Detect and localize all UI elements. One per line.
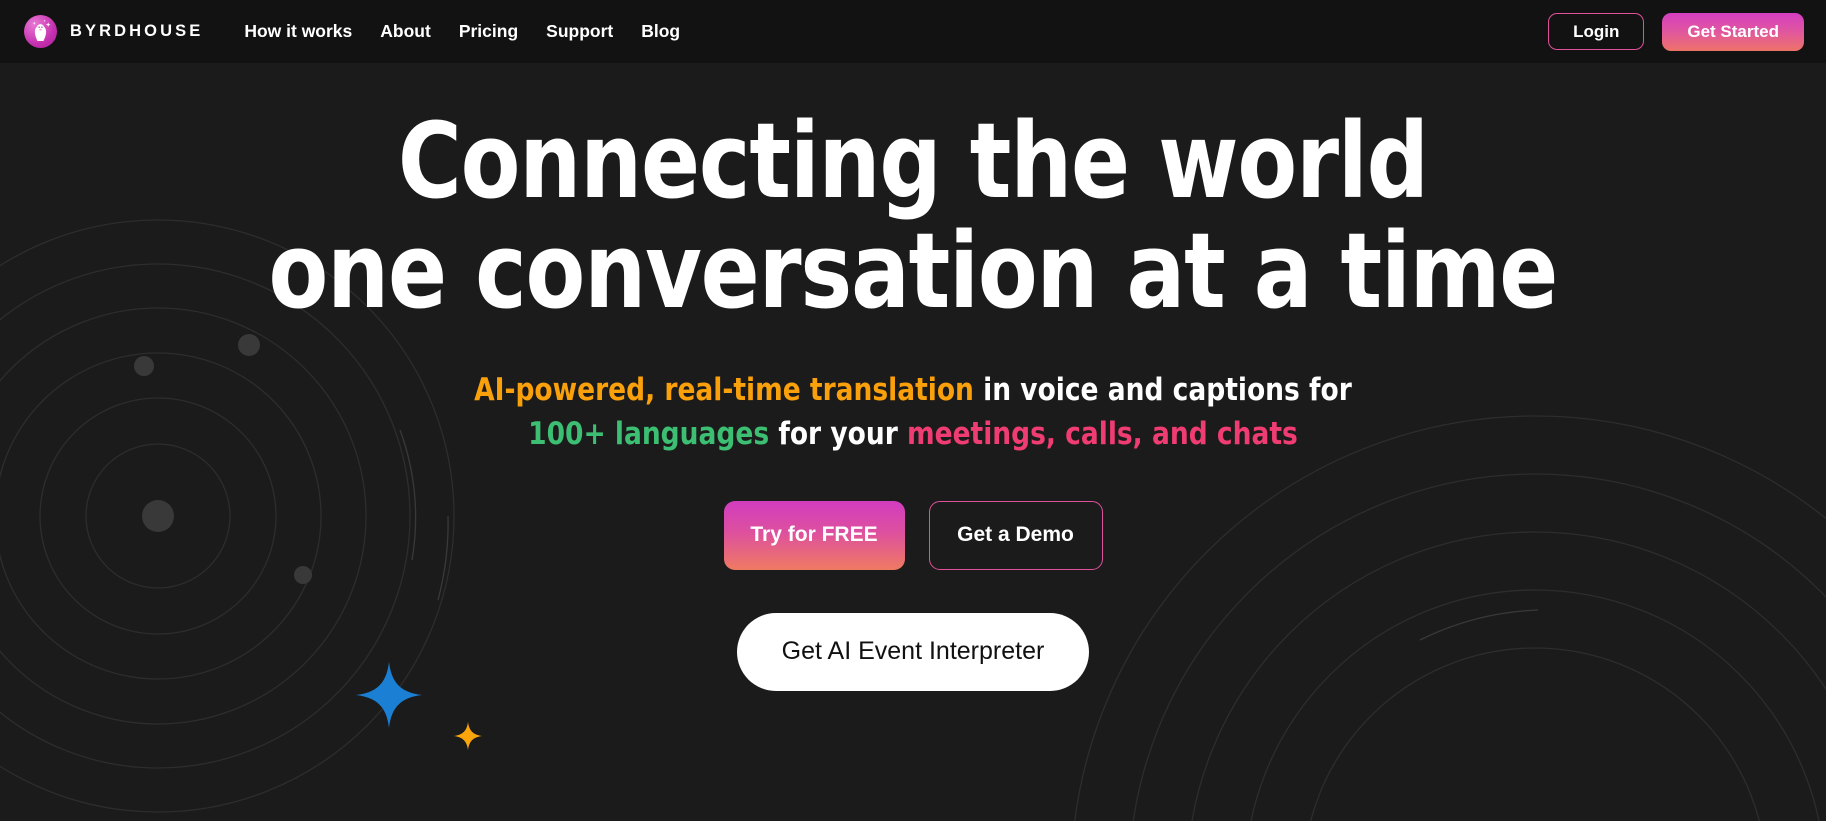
subhead-ai-powered: AI-powered, real-time translation [474, 372, 974, 408]
get-a-demo-button[interactable]: Get a Demo [929, 501, 1103, 570]
headline-line-1: Connecting the world [398, 100, 1428, 222]
header-actions: Login Get Started [1548, 13, 1804, 51]
get-ai-event-interpreter-button[interactable]: Get AI Event Interpreter [737, 613, 1089, 691]
nav-item-pricing[interactable]: Pricing [445, 21, 532, 42]
nav-item-how-it-works[interactable]: How it works [230, 21, 366, 42]
site-header: BYRDHOUSE How it works About Pricing Sup… [0, 0, 1826, 63]
hero-section: Connecting the world one conversation at… [0, 63, 1826, 821]
subhead-voice-captions: in voice and captions for [974, 372, 1352, 408]
get-started-button[interactable]: Get Started [1662, 13, 1804, 51]
headline-line-2: one conversation at a time [269, 216, 1558, 326]
landing-page: BYRDHOUSE How it works About Pricing Sup… [0, 0, 1826, 821]
brand-name: BYRDHOUSE [70, 22, 203, 41]
nav-item-about[interactable]: About [366, 21, 445, 42]
nav-item-support[interactable]: Support [532, 21, 627, 42]
subhead-meetings-calls-chats: meetings, calls, and chats [907, 416, 1298, 452]
subhead-languages: 100+ languages [528, 416, 769, 452]
subhead-for-your: for your [769, 416, 907, 452]
login-button[interactable]: Login [1548, 13, 1644, 50]
hero-subheading: AI-powered, real-time translation in voi… [474, 368, 1352, 456]
byrdhouse-bird-logo-icon [24, 15, 57, 48]
nav-item-blog[interactable]: Blog [627, 21, 694, 42]
cta-button-row: Try for FREE Get a Demo [724, 501, 1103, 570]
try-for-free-button[interactable]: Try for FREE [724, 501, 905, 570]
page-title: Connecting the world one conversation at… [269, 106, 1558, 326]
brand-logo[interactable]: BYRDHOUSE [24, 15, 203, 48]
main-navigation: How it works About Pricing Support Blog [230, 21, 694, 42]
